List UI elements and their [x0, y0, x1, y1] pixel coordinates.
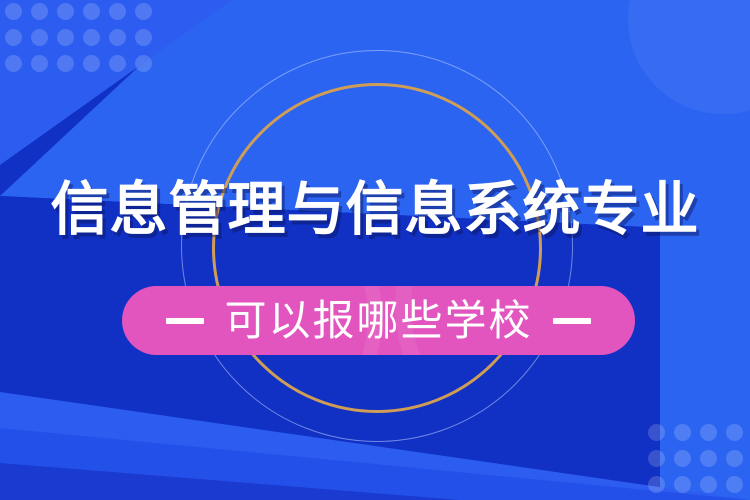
dot: [674, 450, 691, 467]
dot: [57, 29, 74, 46]
dot: [726, 476, 743, 493]
dot: [5, 55, 22, 72]
subtitle-text: 可以报哪些学校: [224, 298, 532, 344]
dot: [83, 29, 100, 46]
dot: [674, 424, 691, 441]
dot: [648, 424, 665, 441]
dot: [700, 424, 717, 441]
dot-grid-top-left: [5, 3, 161, 81]
dot: [31, 3, 48, 20]
dot: [31, 29, 48, 46]
dash-left-icon: [166, 318, 204, 324]
dash-right-icon: [553, 318, 591, 324]
subtitle-pill: 可以报哪些学校: [122, 286, 635, 355]
dot: [700, 450, 717, 467]
dot: [5, 3, 22, 20]
dot: [135, 3, 152, 20]
dot-grid-bottom-right: [648, 424, 750, 500]
dot: [726, 450, 743, 467]
dot: [83, 3, 100, 20]
gold-ring-decoration: [212, 83, 542, 413]
dot: [726, 424, 743, 441]
dot: [109, 55, 126, 72]
dot: [135, 29, 152, 46]
dot: [31, 55, 48, 72]
dot: [83, 55, 100, 72]
dot: [5, 29, 22, 46]
dot: [135, 55, 152, 72]
dot: [57, 55, 74, 72]
page-title: 信息管理与信息系统专业: [0, 174, 750, 246]
dot: [648, 450, 665, 467]
dot: [109, 29, 126, 46]
dot: [109, 3, 126, 20]
dot: [57, 3, 74, 20]
dot: [700, 476, 717, 493]
dot: [648, 476, 665, 493]
dot: [674, 476, 691, 493]
promo-banner: 信息管理与信息系统专业 可以报哪些学校: [0, 0, 750, 500]
